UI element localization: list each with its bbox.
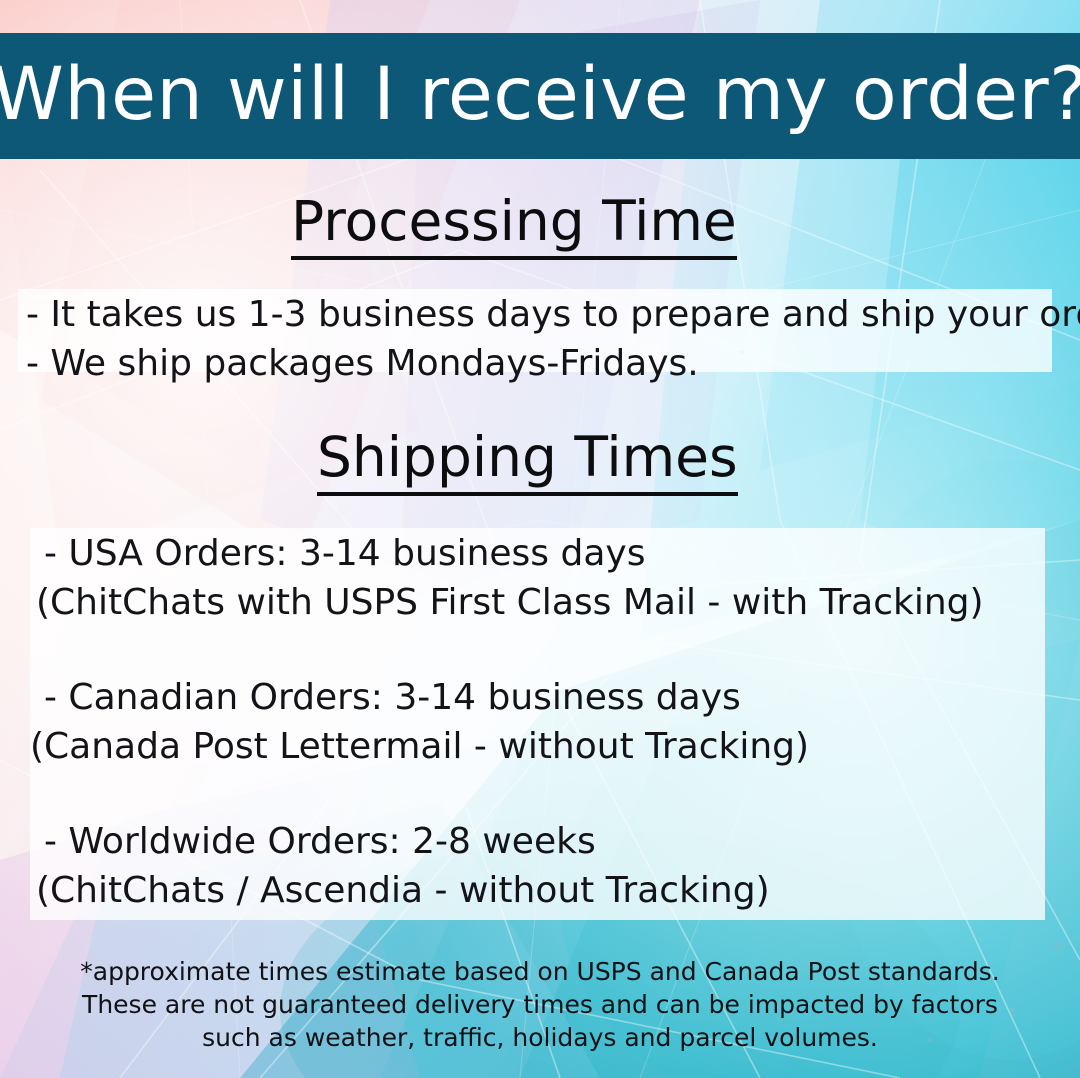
shipping-region-worldwide: - Worldwide Orders: 2-8 weeks [36,817,984,866]
processing-line-1: - It takes us 1-3 business days to prepa… [26,290,1080,339]
footnote-line-3: such as weather, traffic, holidays and p… [0,1021,1080,1054]
footnote-disclaimer: *approximate times estimate based on USP… [0,955,1080,1054]
footnote-line-2: These are not guaranteed delivery times … [0,988,1080,1021]
shipping-region-usa: - USA Orders: 3-14 business days [36,529,984,578]
shipping-carrier-usa: (ChitChats with USPS First Class Mail - … [36,578,984,627]
shipping-group-canada: - Canadian Orders: 3-14 business days (C… [36,673,984,771]
shipping-region-canada: - Canadian Orders: 3-14 business days [36,673,984,722]
processing-line-2: - We ship packages Mondays-Fridays. [26,339,1080,388]
shipping-carrier-canada: (Canada Post Lettermail - without Tracki… [30,722,984,771]
page-title: When will I receive my order? [0,58,1080,131]
shipping-group-usa: - USA Orders: 3-14 business days (ChitCh… [36,529,984,627]
shipping-times-details: - USA Orders: 3-14 business days (ChitCh… [36,529,984,915]
footnote-line-1: *approximate times estimate based on USP… [0,955,1080,988]
shipping-group-worldwide: - Worldwide Orders: 2-8 weeks (ChitChats… [36,817,984,915]
section-heading-processing-time: Processing Time [291,194,737,260]
header-banner: When will I receive my order? [0,33,1080,159]
section-heading-shipping-times: Shipping Times [317,430,738,496]
processing-time-details: - It takes us 1-3 business days to prepa… [26,290,1080,388]
shipping-info-poster: When will I receive my order? Processing… [0,0,1080,1078]
shipping-carrier-worldwide: (ChitChats / Ascendia - without Tracking… [36,866,984,915]
